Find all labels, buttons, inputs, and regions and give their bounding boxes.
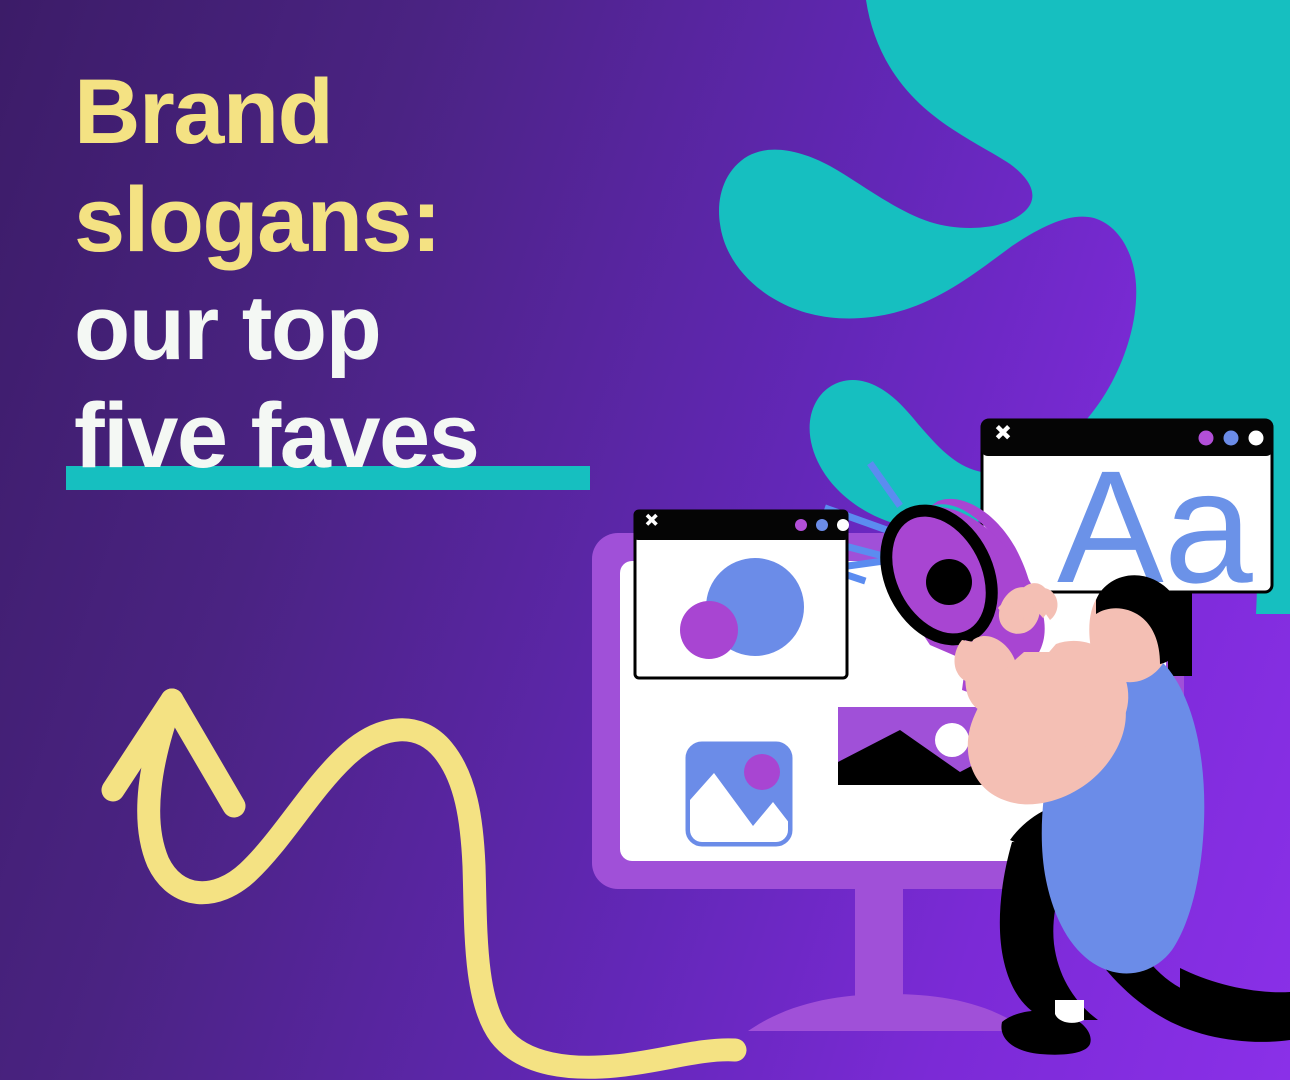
photo-placeholder-icon: [688, 744, 790, 844]
headline-line-2: slogans:: [74, 166, 674, 274]
poster-canvas: Aa: [0, 0, 1290, 1080]
headline-line-1: Brand: [74, 58, 674, 166]
window-dot-white[interactable]: [837, 519, 849, 531]
landscape-moon: [935, 723, 969, 757]
megaphone-inner-dot: [926, 559, 972, 605]
headline-line-3: our top: [74, 274, 674, 382]
window-circles-titlebar: [634, 510, 848, 540]
headline-block: Brand slogans: our top five faves: [74, 58, 674, 490]
window-dot-blue[interactable]: [816, 519, 828, 531]
monitor-stand-neck: [855, 880, 903, 1020]
person-hand-back: [955, 640, 990, 683]
headline-line-4: five faves: [74, 382, 674, 490]
small-purple-circle: [680, 601, 738, 659]
window-dot-purple[interactable]: [795, 519, 807, 531]
photo-icon-sun: [744, 754, 780, 790]
window-circles[interactable]: [634, 510, 849, 678]
